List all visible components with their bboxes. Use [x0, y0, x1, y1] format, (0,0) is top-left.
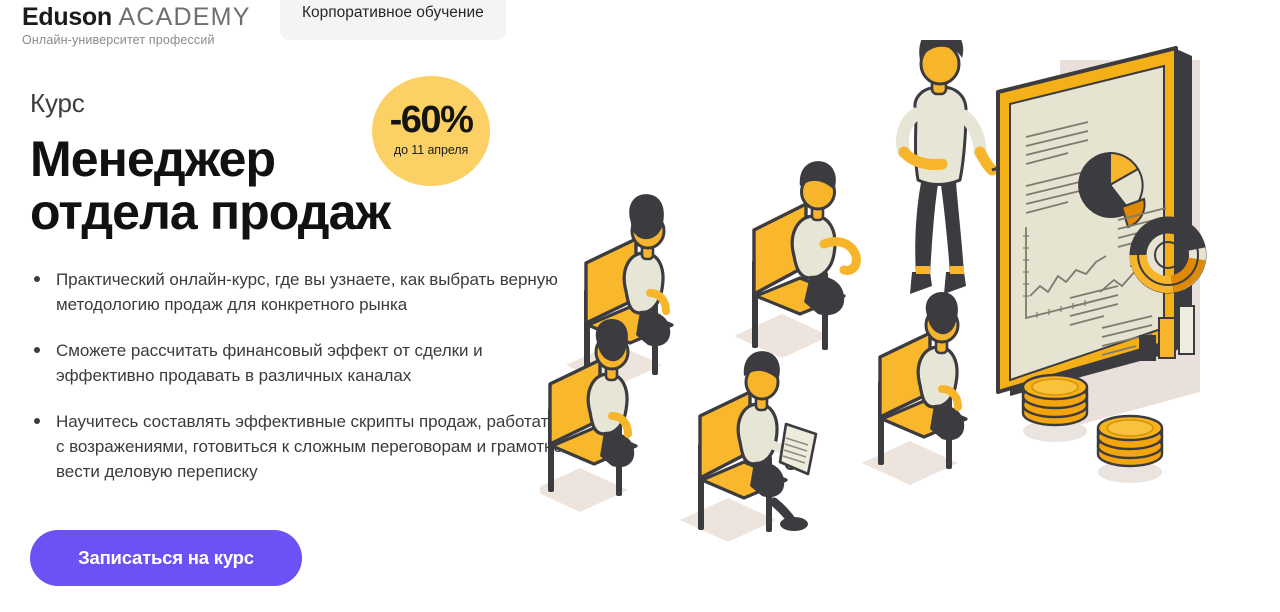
discount-badge: -60% до 11 апреля [372, 76, 490, 186]
logo-brand-bold: Eduson [22, 3, 112, 31]
enroll-button[interactable]: Записаться на курс [30, 530, 302, 586]
discount-percent: -60% [390, 101, 473, 139]
list-item-text: Сможете рассчитать финансовый эффект от … [56, 341, 483, 385]
logo-brand-light: ACADEMY [119, 3, 251, 31]
discount-deadline: до 11 апреля [394, 143, 468, 157]
corporate-training-button[interactable]: Корпоративное обучение [280, 0, 506, 40]
list-item: Сможете рассчитать финансовый эффект от … [30, 338, 570, 388]
logo[interactable]: Eduson ACADEMY Онлайн-университет профес… [22, 3, 262, 48]
feature-list: Практический онлайн-курс, где вы узнаете… [30, 267, 570, 484]
list-item: Практический онлайн-курс, где вы узнаете… [30, 267, 570, 317]
audience-person-reading [680, 351, 816, 542]
coin-stack-right [1098, 416, 1162, 483]
page-title: Менеджер отдела продаж [30, 133, 570, 239]
classroom-illustration-svg [540, 40, 1280, 560]
landing-page: Eduson ACADEMY Онлайн-университет профес… [0, 0, 1280, 612]
logo-tagline: Онлайн-университет профессий [22, 32, 262, 48]
bullet-dot-icon [34, 276, 40, 282]
presentation-board [998, 48, 1200, 430]
list-item: Научитесь составлять эффективные скрипты… [30, 409, 570, 484]
coin-stack-left [1023, 375, 1087, 442]
list-item-text: Практический онлайн-курс, где вы узнаете… [56, 270, 558, 314]
bullet-dot-icon [34, 347, 40, 353]
hero-content: Курс Менеджер отдела продаж Практический… [30, 88, 570, 484]
page-title-line-2: отдела продаж [30, 186, 570, 239]
audience-person [862, 292, 966, 485]
hero-illustration [540, 40, 1280, 560]
list-item-text: Научитесь составлять эффективные скрипты… [56, 412, 563, 481]
logo-wordmark: Eduson ACADEMY [22, 3, 262, 31]
audience-person [734, 161, 856, 358]
course-kicker: Курс [30, 88, 570, 119]
bullet-dot-icon [34, 418, 40, 424]
